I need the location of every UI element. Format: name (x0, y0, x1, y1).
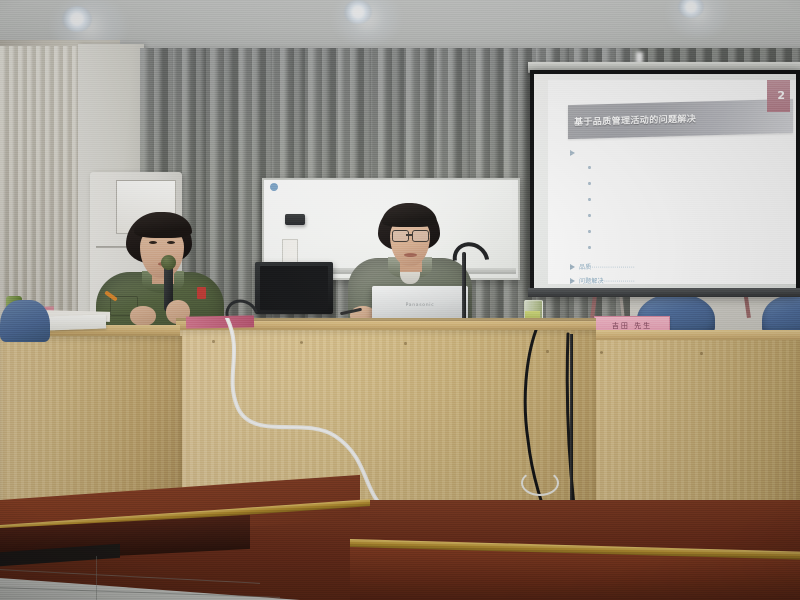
slide-bullet-l1 (570, 150, 579, 156)
laptop-brand-logo: Panasonic (398, 303, 442, 308)
slide-subbullet (588, 182, 595, 185)
eyeglasses-bridge (406, 234, 413, 236)
person-right-mouth (404, 253, 417, 257)
slide-bullet-l1: 问题解决⋯⋯⋯⋯⋯ (570, 276, 635, 285)
slide-bullet-text: 问题解决⋯⋯⋯⋯⋯ (579, 276, 635, 285)
eyeglasses-icon (392, 230, 409, 242)
microphone-stand (462, 252, 466, 320)
dot-bullet-icon (588, 182, 591, 185)
person-left-hand (130, 306, 156, 326)
presentation-slide: 基于品质管理活动的问题解决 2 (548, 80, 796, 284)
projection-screen-bottom-bar (528, 288, 800, 297)
desk-screw (700, 352, 703, 355)
whiteboard-eraser (285, 214, 305, 225)
blue-chair-left (0, 300, 50, 342)
projection-screen-surface: 基于品质管理活动的问题解决 2 (534, 74, 796, 288)
eyeglasses-icon (412, 230, 429, 242)
slide-bullet-l1: 品质⋯⋯⋯⋯⋯⋯⋯ (570, 262, 635, 271)
person-left-badge (197, 287, 206, 299)
whiteboard-marker (282, 239, 298, 263)
slide-subbullet (588, 214, 595, 217)
triangle-bullet-icon (570, 150, 575, 156)
triangle-bullet-icon (570, 278, 575, 284)
slide-page-number: 2 (777, 89, 785, 102)
slide-subbullet (588, 246, 595, 249)
dot-bullet-icon (588, 198, 591, 201)
tile-grout-line (96, 556, 97, 600)
dot-bullet-icon (588, 166, 591, 169)
slide-bullet-text: 品质⋯⋯⋯⋯⋯⋯⋯ (579, 262, 635, 271)
triangle-bullet-icon (570, 264, 575, 270)
downlight-1-icon (62, 6, 92, 32)
slide-subbullet (588, 198, 595, 201)
slide-subbullet (588, 230, 595, 233)
conference-room-photo: 基于品质管理活动的问题解决 2 (0, 0, 800, 600)
projection-screen: 基于品质管理活动的问题解决 2 (530, 70, 800, 292)
slide-subbullet (588, 166, 595, 169)
cable-loop (521, 470, 559, 496)
person-left-eye (167, 241, 175, 244)
person-left-eye (149, 241, 157, 244)
dot-bullet-icon (588, 246, 591, 249)
downlight-2-icon (344, 0, 372, 24)
microphone-head-icon (161, 255, 176, 270)
laptop-black-screen (260, 266, 328, 310)
dot-bullet-icon (588, 230, 591, 233)
whiteboard-magnet (270, 183, 278, 191)
dot-bullet-icon (588, 214, 591, 217)
